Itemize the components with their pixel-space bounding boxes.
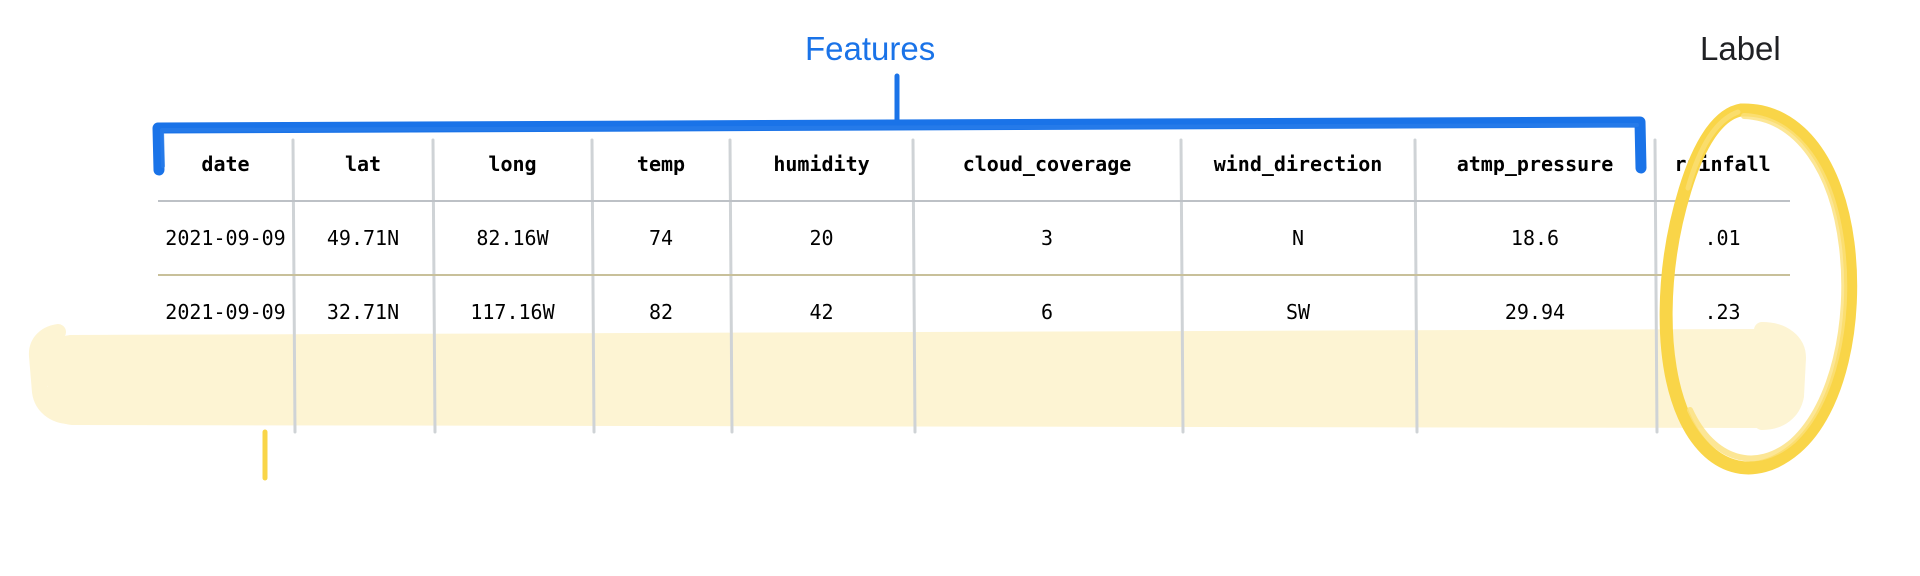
cell-date: 2021-09-09 — [158, 275, 293, 348]
cell-atmp-pressure: 18.6 — [1415, 201, 1655, 275]
cell-wind-direction: SW — [1181, 275, 1415, 348]
table-header-row: date lat long temp humidity cloud_covera… — [158, 128, 1790, 201]
column-header-wind-direction: wind_direction — [1181, 128, 1415, 201]
cell-atmp-pressure: 29.94 — [1415, 275, 1655, 348]
cell-long: 82.16W — [433, 201, 592, 275]
cell-temp: 82 — [592, 275, 730, 348]
cell-humidity: 42 — [730, 275, 913, 348]
weather-data-table: date lat long temp humidity cloud_covera… — [158, 128, 1790, 348]
cell-wind-direction: N — [1181, 201, 1415, 275]
column-header-lat: lat — [293, 128, 433, 201]
cell-cloud-coverage: 3 — [913, 201, 1181, 275]
cell-lat: 49.71N — [293, 201, 433, 275]
cell-humidity: 20 — [730, 201, 913, 275]
cell-rainfall: .01 — [1655, 201, 1790, 275]
label-annotation-label: Label — [1700, 30, 1781, 68]
table-row: 2021-09-09 32.71N 117.16W 82 42 6 SW 29.… — [158, 275, 1790, 348]
table-row: 2021-09-09 49.71N 82.16W 74 20 3 N 18.6 … — [158, 201, 1790, 275]
cell-date: 2021-09-09 — [158, 201, 293, 275]
column-header-long: long — [433, 128, 592, 201]
column-header-humidity: humidity — [730, 128, 913, 201]
column-header-atmp-pressure: atmp_pressure — [1415, 128, 1655, 201]
cell-long: 117.16W — [433, 275, 592, 348]
cell-lat: 32.71N — [293, 275, 433, 348]
column-header-date: date — [158, 128, 293, 201]
diagram-canvas: date lat long temp humidity cloud_covera… — [0, 0, 1920, 576]
column-header-temp: temp — [592, 128, 730, 201]
cell-cloud-coverage: 6 — [913, 275, 1181, 348]
column-header-cloud-coverage: cloud_coverage — [913, 128, 1181, 201]
features-annotation-label: Features — [805, 30, 935, 68]
example-annotation-label: Example — [155, 382, 283, 420]
column-header-rainfall: rainfall — [1655, 128, 1790, 201]
cell-temp: 74 — [592, 201, 730, 275]
cell-rainfall: .23 — [1655, 275, 1790, 348]
